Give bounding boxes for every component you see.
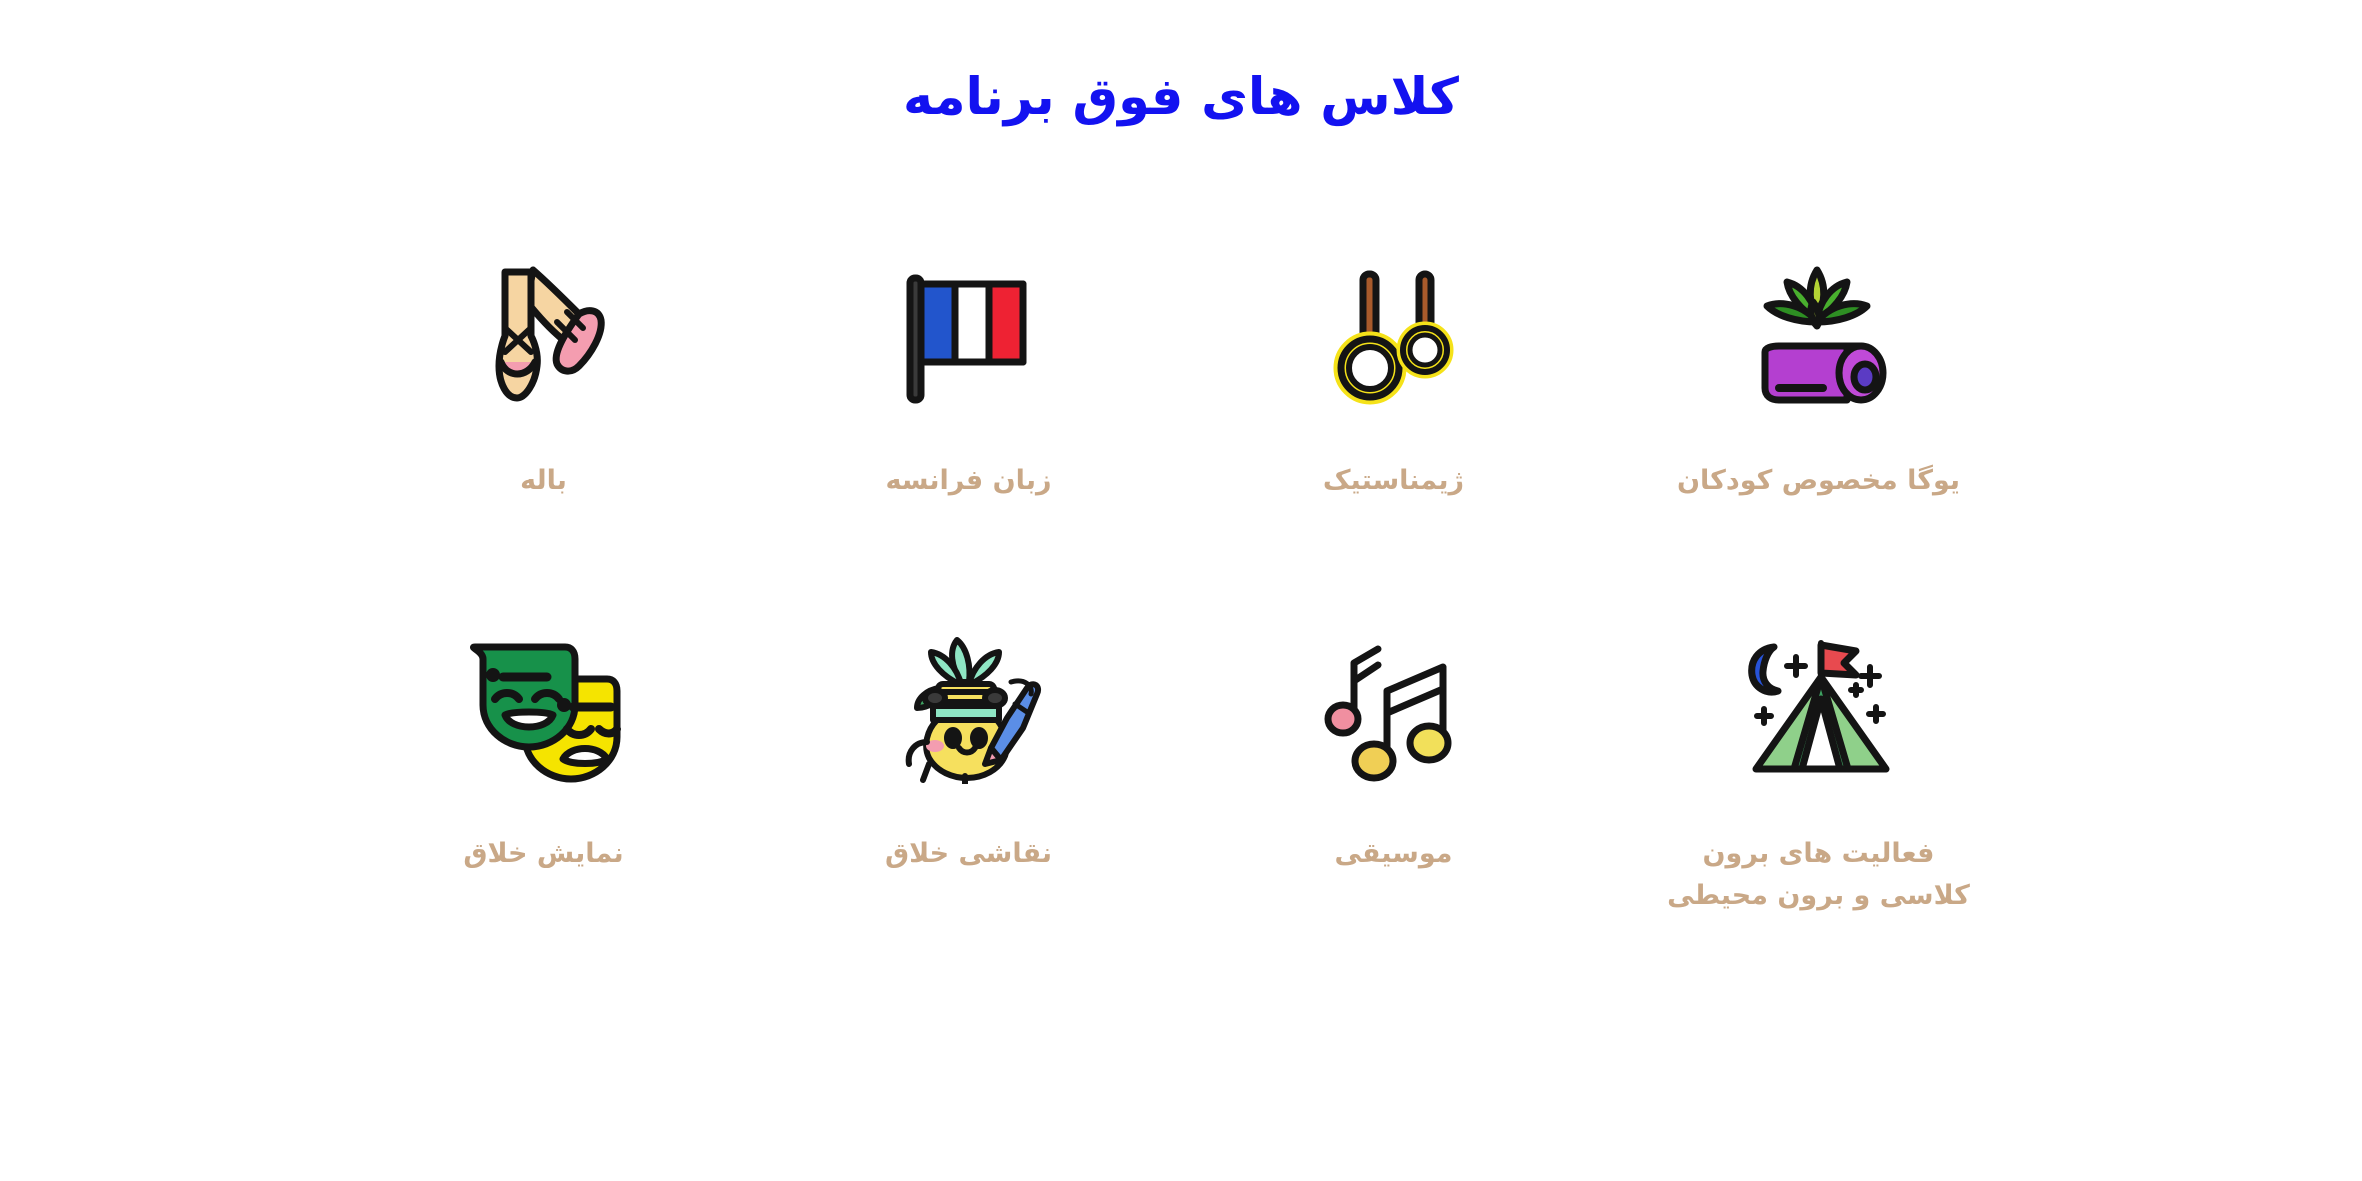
classes-grid: یوگا مخصوص کودکان ژی bbox=[331, 130, 2031, 994]
class-label: نقاشی خلاق bbox=[885, 833, 1052, 875]
class-card-outdoor[interactable]: فعالیت های برون کلاسی و برون محیطی bbox=[1606, 621, 2031, 994]
camping-tent-night-icon bbox=[1736, 621, 1901, 796]
french-flag-icon bbox=[894, 248, 1044, 423]
music-notes-icon bbox=[1321, 621, 1466, 796]
class-card-french[interactable]: زبان فرانسه bbox=[756, 248, 1181, 621]
yoga-mat-lotus-icon bbox=[1739, 248, 1899, 423]
class-card-music[interactable]: موسیقی bbox=[1181, 621, 1606, 994]
class-label: موسیقی bbox=[1335, 833, 1453, 875]
class-label: فعالیت های برون کلاسی و برون محیطی bbox=[1659, 833, 1979, 917]
class-label: یوگا مخصوص کودکان bbox=[1677, 460, 1960, 502]
class-label: باله bbox=[520, 460, 567, 502]
class-label: زبان فرانسه bbox=[886, 460, 1052, 502]
class-card-painting[interactable]: نقاشی خلاق bbox=[756, 621, 1181, 994]
pineapple-painter-icon bbox=[891, 621, 1046, 796]
ballet-shoes-icon bbox=[479, 248, 609, 423]
class-card-gymnastics[interactable]: ژیمناستیک bbox=[1181, 248, 1606, 621]
page-title: کلاس های فوق برنامه bbox=[0, 0, 2362, 130]
extracurricular-classes-page: کلاس های فوق برنامه bbox=[0, 0, 2362, 1181]
theater-masks-icon bbox=[461, 621, 626, 796]
class-label: نمایش خلاق bbox=[463, 833, 623, 875]
gymnastic-rings-icon bbox=[1329, 248, 1459, 423]
class-label: ژیمناستیک bbox=[1323, 460, 1464, 502]
class-card-ballet[interactable]: باله bbox=[331, 248, 756, 621]
class-card-drama[interactable]: نمایش خلاق bbox=[331, 621, 756, 994]
class-card-yoga[interactable]: یوگا مخصوص کودکان bbox=[1606, 248, 2031, 621]
